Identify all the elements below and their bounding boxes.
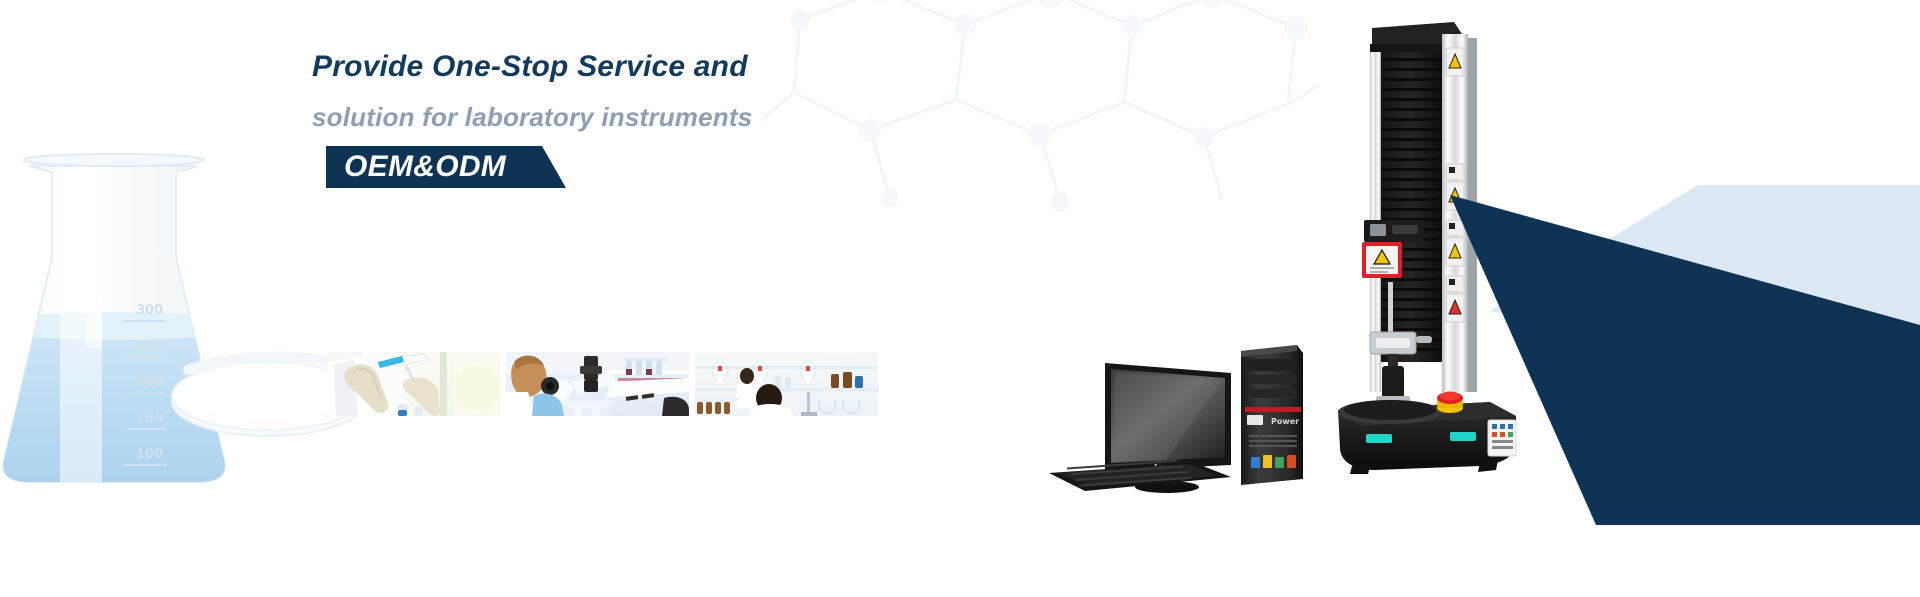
svg-text:100: 100 xyxy=(136,447,163,462)
banner-stage: 300 250 200 150 100 Provide One-Stop Ser… xyxy=(0,0,1920,597)
headline-line-2: solution for laboratory instruments xyxy=(312,104,1032,130)
lab-photo-pipetting xyxy=(328,352,500,416)
svg-text:300: 300 xyxy=(136,303,163,318)
lab-photo-microscope xyxy=(506,352,689,416)
desktop-computer: Power Aocs xyxy=(1045,345,1305,495)
oem-odm-badge-label: OEM&ODM xyxy=(326,150,506,184)
svg-text:Power: Power xyxy=(1271,417,1299,426)
lab-photo-strip xyxy=(328,352,878,416)
svg-text:250: 250 xyxy=(136,339,163,354)
headline-block: Provide One-Stop Service and solution fo… xyxy=(312,52,1032,130)
warning-triangle-icon xyxy=(1362,242,1402,278)
lab-photo-lab-bench xyxy=(695,352,878,416)
erlenmeyer-flask-icon: 300 250 200 150 100 xyxy=(0,108,294,488)
svg-text:200: 200 xyxy=(136,375,163,390)
oem-odm-badge: OEM&ODM xyxy=(326,146,566,188)
headline-line-1: Provide One-Stop Service and xyxy=(312,52,1032,82)
svg-text:150: 150 xyxy=(136,411,163,426)
emergency-stop-button xyxy=(1437,392,1463,414)
